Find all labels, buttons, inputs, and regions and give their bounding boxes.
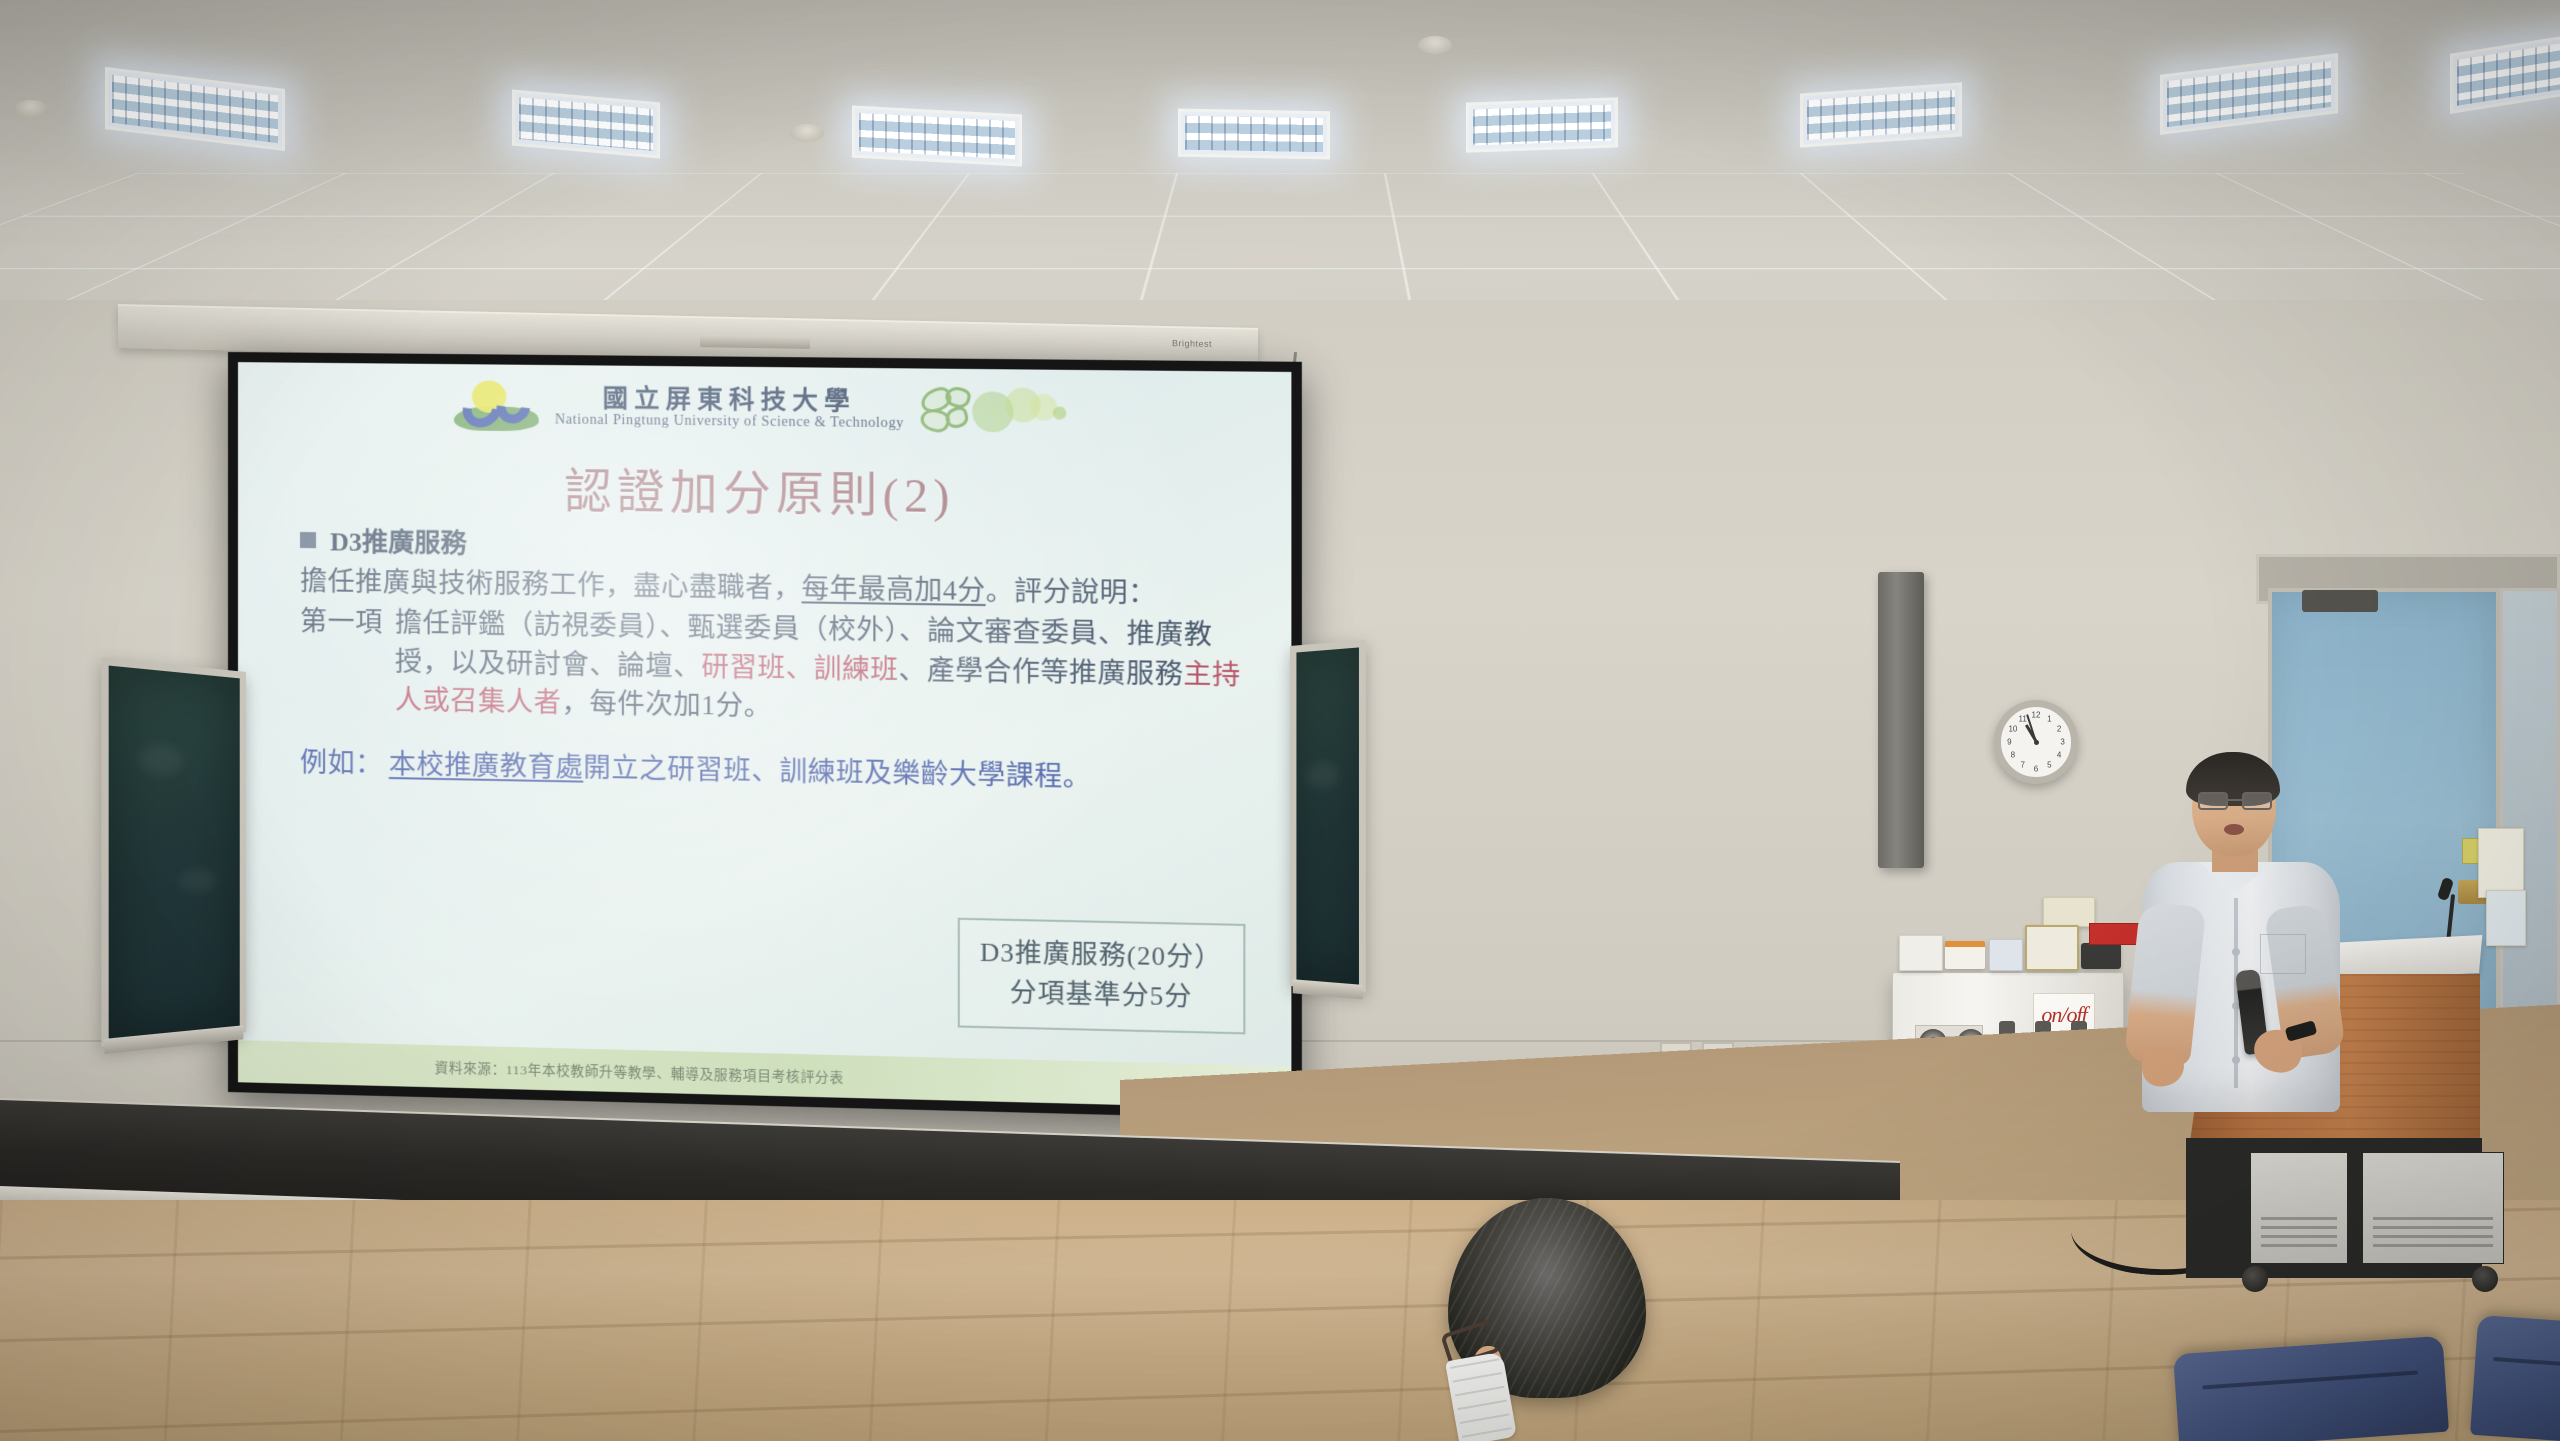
slide-item-block: 第一項 擔任評鑑（訪視委員）、甄選委員（校外）、論文審查委員、推廣教授，以及研討…	[300, 602, 1250, 734]
presentation-slide: 國立屏東科技大學 National Pingtung University of…	[238, 362, 1291, 1109]
chalkboard-right	[1290, 640, 1366, 993]
wall-speaker-icon	[1878, 572, 1924, 868]
wall-notice	[2478, 828, 2524, 898]
square-bullet-icon	[300, 531, 316, 547]
smoke-detector-icon	[14, 100, 48, 118]
score-box-line-2: 分項基準分5分	[980, 972, 1222, 1017]
slide-bullet-label: D3推廣服務	[330, 521, 467, 560]
paragraph-1-underline-b: 加4分	[914, 575, 985, 607]
example-text-1: 開立之研習班、訓練班及樂	[583, 753, 920, 790]
slide-body: D3推廣服務 擔任推廣與技術服務工作，盡心盡職者，每年最高加4分。評分說明： 第…	[300, 521, 1250, 800]
slide-example-block: 例如： 本校推廣教育處開立之研習班、訓練班及樂齡大學課程。	[300, 744, 1250, 800]
ceiling-light-icon	[1800, 82, 1962, 147]
smoke-detector-icon	[1418, 36, 1452, 54]
paragraph-1-text: 擔任推廣與技術服務工作，盡心盡職者，	[300, 566, 801, 603]
screen-mount-bracket	[700, 335, 810, 349]
university-name-en: National Pingtung University of Science …	[555, 414, 904, 433]
clock-center-pin	[2034, 740, 2039, 745]
example-body: 本校推廣教育處開立之研習班、訓練班及樂齡大學課程。	[389, 745, 1091, 797]
audience-chair[interactable]	[2173, 1336, 2449, 1441]
example-text-2: 齡大學課程。	[921, 759, 1092, 793]
example-underline: 本校推廣教育處	[389, 749, 583, 783]
butterfly-decoration-icon	[914, 385, 1069, 439]
slide-title: 認證加分原則(2)	[238, 448, 1291, 531]
audience-member	[1438, 1198, 1658, 1441]
university-logo-icon	[452, 378, 545, 435]
slide-item-body: 擔任評鑑（訪視委員）、甄選委員（校外）、論文審查委員、推廣教授，以及研討會、論壇…	[395, 604, 1250, 734]
caster-wheel-icon	[2472, 1266, 2498, 1292]
item-text-3-b: 、產學合作等推廣服務	[899, 654, 1184, 689]
chalkboard-left	[101, 657, 246, 1046]
item-text-4-tail: ，每件次加1分。	[562, 688, 772, 722]
glasses-icon	[2198, 792, 2272, 810]
smoke-detector-icon	[790, 124, 824, 142]
item-text-1: 擔任評鑑（訪視委員）、甄選委員（校外）、	[395, 608, 927, 646]
audience-chair[interactable]	[2470, 1315, 2560, 1441]
slide-item-label: 第一項	[300, 602, 383, 719]
item-text-3-a: 壇、	[645, 650, 701, 681]
score-box-line-1: D3推廣服務(20分）	[980, 932, 1222, 977]
dispenser-top-items	[1893, 927, 2125, 975]
projection-screen[interactable]: 國立屏東科技大學 National Pingtung University of…	[228, 352, 1302, 1120]
university-name-cn: 國立屏東科技大學	[555, 386, 904, 416]
university-name-block: 國立屏東科技大學 National Pingtung University of…	[555, 386, 904, 432]
paragraph-1-tail: 。評分說明：	[986, 576, 1157, 609]
example-label: 例如：	[300, 744, 383, 784]
clock-face: 12 1 2 3 4 5 6 7 8 9 10 11	[2001, 707, 2071, 777]
ceiling-light-icon	[852, 106, 1022, 167]
score-callout-box: D3推廣服務(20分） 分項基準分5分	[957, 918, 1245, 1035]
door-closer-icon	[2302, 590, 2378, 612]
caster-wheel-icon	[2242, 1266, 2268, 1292]
presenter-shirt-pocket	[2260, 934, 2306, 974]
screen-housing-brand: Brightest	[1172, 338, 1212, 349]
item-text-3-highlight: 研習班、訓練班	[701, 651, 898, 685]
ceiling-light-icon	[1178, 109, 1330, 160]
slide-source-note: 資料來源：113年本校教師升等教學、輔導及服務項目考核評分表	[238, 1051, 844, 1086]
equipment-panel	[2362, 1152, 2504, 1264]
ceiling-light-icon	[1466, 97, 1618, 152]
presenter	[2136, 758, 2356, 1178]
paragraph-1-underline-a: 每年最高	[801, 573, 914, 605]
lecture-hall-scene: Brightest 國立屏東科技大學 National Pingtung Uni…	[0, 0, 2560, 1441]
presenter-mouth	[2224, 824, 2244, 835]
wall-clock: 12 1 2 3 4 5 6 7 8 9 10 11	[1994, 700, 2078, 784]
slide-header: 國立屏東科技大學 National Pingtung University of…	[238, 376, 1291, 444]
